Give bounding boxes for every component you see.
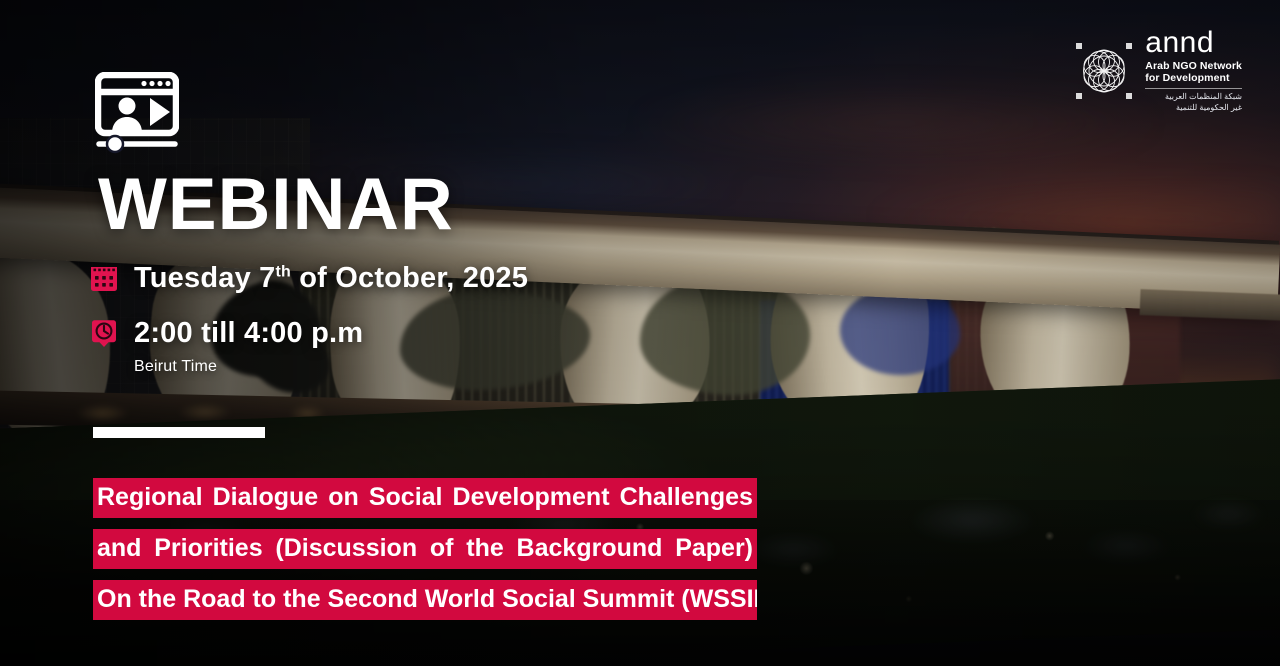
clock-icon: [90, 319, 118, 349]
annd-logo-text: annd Arab NGO Network for Development شب…: [1145, 28, 1242, 113]
webinar-title: RegionalDialogueonSocialDevelopmentChall…: [93, 478, 757, 620]
title-word: on: [328, 481, 359, 514]
title-word: and: [97, 532, 141, 565]
title-word: Paper): [675, 532, 753, 565]
annd-tagline: Arab NGO Network for Development: [1145, 60, 1242, 85]
event-time-text: 2:00 till 4:00 p.m: [134, 317, 363, 350]
webinar-title-line-3: On the Road to the Second World Social S…: [93, 580, 757, 620]
title-word: Social: [369, 481, 443, 514]
page-title: WEBINAR: [98, 168, 454, 241]
annd-tagline-line1: Arab NGO Network: [1145, 60, 1242, 72]
title-word: Background: [517, 532, 663, 565]
title-word: the: [466, 532, 504, 565]
annd-logo: annd Arab NGO Network for Development شب…: [1073, 28, 1242, 113]
webinar-title-line-2: andPriorities(DiscussionoftheBackgroundP…: [93, 529, 757, 569]
event-date-text: Tuesday 7th of October, 2025: [134, 262, 528, 295]
divider-bar: [93, 427, 265, 438]
event-timezone: Beirut Time: [134, 358, 528, 376]
annd-rosette-mark-icon: [1073, 40, 1135, 102]
annd-wordmark: annd: [1145, 28, 1242, 58]
calendar-icon: [90, 264, 118, 294]
event-time-row: 2:00 till 4:00 p.m: [90, 317, 528, 350]
event-date-rest: of October, 2025: [291, 262, 528, 294]
title-word: Development: [453, 481, 610, 514]
webinar-video-window-icon: [95, 72, 179, 156]
event-details: Tuesday 7th of October, 2025 2:00 till 4…: [90, 262, 528, 376]
annd-arabic-line2: غير الحكومية للتنمية: [1145, 103, 1242, 114]
event-date-main: Tuesday 7: [134, 262, 276, 294]
logo-divider-rule: [1145, 88, 1242, 89]
event-date-row: Tuesday 7th of October, 2025: [90, 262, 528, 295]
title-word: (Discussion: [275, 532, 417, 565]
annd-arabic-text: شبكة المنظمات العربية غير الحكومية للتنم…: [1145, 92, 1242, 114]
title-word: Dialogue: [213, 481, 319, 514]
webinar-title-line-1: RegionalDialogueonSocialDevelopmentChall…: [93, 478, 757, 518]
title-word: of: [430, 532, 454, 565]
annd-arabic-line1: شبكة المنظمات العربية: [1145, 92, 1242, 103]
poster-content: annd Arab NGO Network for Development شب…: [0, 0, 1280, 666]
title-word: Priorities: [154, 532, 262, 565]
title-word: Regional: [97, 481, 203, 514]
title-word: Challenges: [620, 481, 753, 514]
annd-tagline-line2: for Development: [1145, 72, 1242, 84]
event-date-ordinal: th: [276, 263, 291, 280]
webinar-poster: annd Arab NGO Network for Development شب…: [0, 0, 1280, 666]
